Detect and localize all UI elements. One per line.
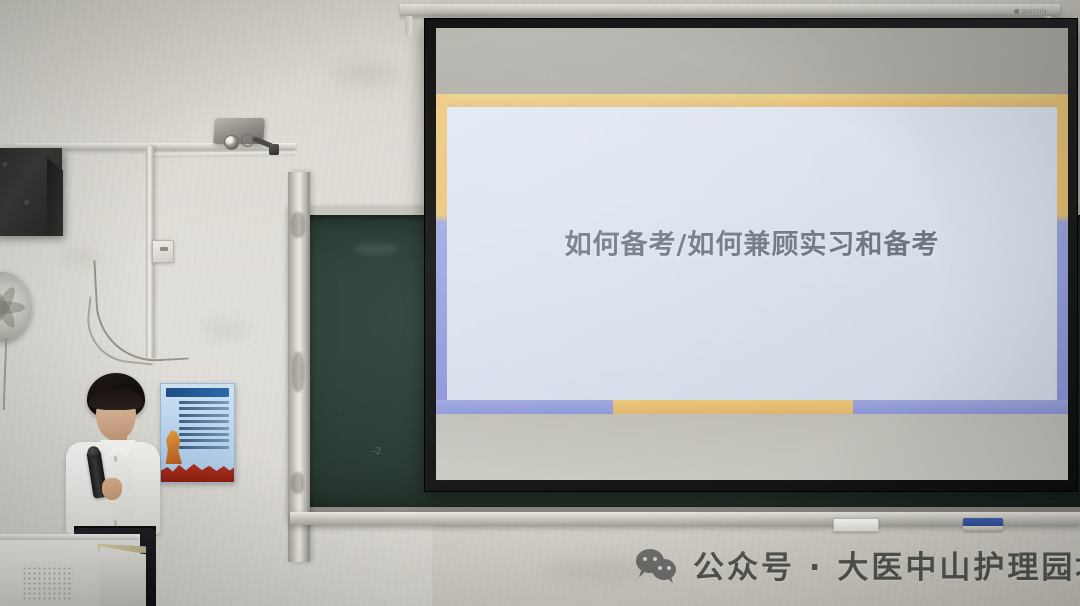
watermark-text: 公众号 · 大医中山护理园地: [693, 542, 1080, 587]
wall-smudge: [200, 320, 250, 338]
poster-rule-line: [179, 427, 229, 430]
slide-accent-bottom: [436, 400, 1068, 414]
podium-speaker-grille: [22, 566, 74, 602]
slide-accent-top: [436, 94, 1068, 107]
classroom-screenshot: -2 . SUNYIN 如何备考/如何兼顾实习和备考: [0, 0, 1080, 606]
screen-brand-label: SUNYIN: [1014, 6, 1074, 17]
chalk-box[interactable]: [833, 518, 879, 532]
blackboard-slide-rail: [288, 172, 310, 562]
wechat-icon: [636, 549, 680, 581]
poster-rule-line: [179, 401, 229, 404]
poster-rule-line: [179, 433, 229, 436]
slide-accent-right: [1057, 94, 1068, 414]
speaker-hand: [102, 478, 122, 500]
poster-rule-line: [179, 439, 229, 442]
presentation-slide: 如何备考/如何兼顾实习和备考: [436, 94, 1068, 414]
screen-mount-bracket: [400, 4, 1060, 16]
podium-side-panel: [100, 546, 146, 606]
letterbox-band-top: [436, 28, 1068, 94]
wall-smudge: [330, 60, 400, 86]
slide-title: 如何备考/如何兼顾实习和备考: [447, 222, 1057, 261]
security-camera: [214, 118, 270, 154]
poster-title-bar: [166, 388, 229, 397]
projection-screen-surface: 如何备考/如何兼顾实习和备考: [436, 28, 1068, 480]
poster-rule-line: [179, 420, 229, 423]
brand-name: SUNYIN: [1022, 9, 1046, 15]
wall-speaker: [0, 148, 62, 236]
projection-screen-frame: 如何备考/如何兼顾实习和备考: [424, 18, 1078, 492]
slide-accent-bottom-gold: [613, 400, 853, 414]
watermark: 公众号 · 大医中山护理园地: [636, 542, 1080, 587]
wall-poster: [160, 383, 235, 483]
brand-mark-icon: [1014, 9, 1019, 14]
poster-rule-line: [179, 414, 229, 417]
chalk-tray: [290, 512, 1080, 525]
speaker-fringe: [89, 388, 143, 410]
slide-content-area: 如何备考/如何兼顾实习和备考: [447, 107, 1057, 400]
board-eraser[interactable]: [963, 518, 1003, 531]
poster-rule-line: [179, 446, 229, 449]
letterbox-band-bottom: [436, 414, 1068, 480]
slide-accent-left: [436, 94, 447, 414]
poster-rule-list: [179, 401, 229, 452]
screen-bracket-arm: [405, 16, 412, 34]
camera-lens-icon: [224, 135, 239, 150]
poster-rule-line: [179, 407, 229, 410]
